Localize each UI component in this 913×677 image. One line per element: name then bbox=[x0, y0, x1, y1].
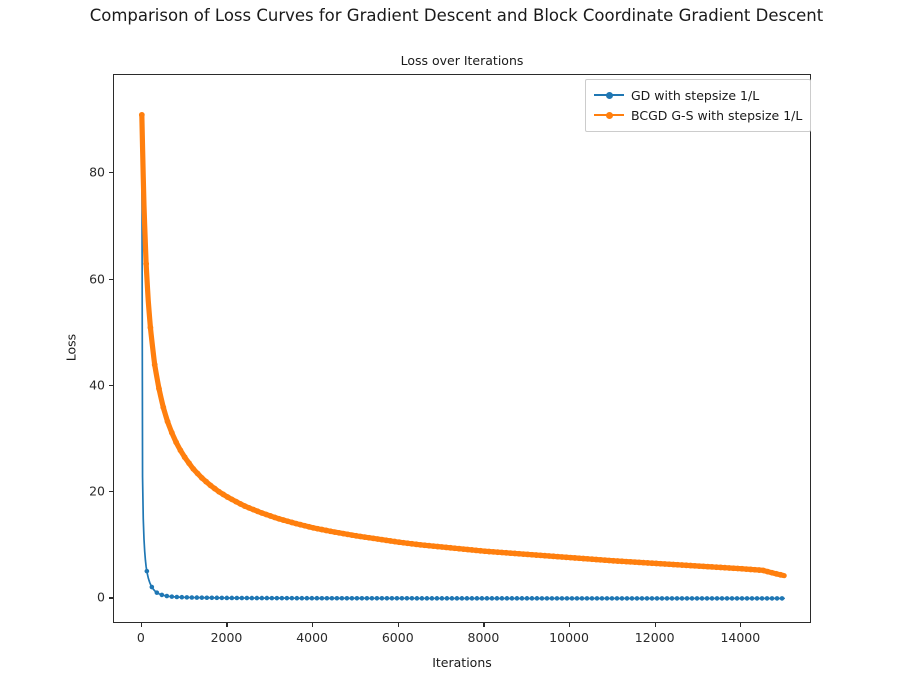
y-tick-label: 80 bbox=[67, 165, 105, 180]
plot-area bbox=[113, 74, 811, 623]
x-tick-label: 12000 bbox=[635, 630, 675, 645]
x-tick-label: 6000 bbox=[382, 630, 414, 645]
series-canvas bbox=[114, 75, 812, 624]
x-tick-label: 4000 bbox=[296, 630, 328, 645]
y-axis-label: Loss bbox=[64, 317, 79, 377]
x-axis-label: Iterations bbox=[113, 655, 811, 670]
y-tick-label: 0 bbox=[67, 590, 105, 605]
chart-legend: GD with stepsize 1/L BCGD G-S with steps… bbox=[585, 79, 811, 132]
series-markers bbox=[139, 112, 784, 578]
legend-item-gd: GD with stepsize 1/L bbox=[594, 85, 802, 105]
x-tick-label: 0 bbox=[137, 630, 145, 645]
legend-line-marker-icon bbox=[594, 108, 624, 122]
legend-line-marker-icon bbox=[594, 88, 624, 102]
x-tick-label: 14000 bbox=[720, 630, 760, 645]
series-markers bbox=[140, 113, 785, 601]
y-tick-label: 40 bbox=[67, 377, 105, 392]
legend-label-bcgd: BCGD G-S with stepsize 1/L bbox=[631, 108, 802, 123]
series-line bbox=[142, 115, 784, 576]
figure-canvas: Comparison of Loss Curves for Gradient D… bbox=[0, 0, 913, 677]
y-tick-label: 20 bbox=[67, 484, 105, 499]
x-tick-label: 2000 bbox=[211, 630, 243, 645]
legend-item-bcgd: BCGD G-S with stepsize 1/L bbox=[594, 105, 802, 125]
x-tick-label: 8000 bbox=[468, 630, 500, 645]
x-tick-label: 10000 bbox=[549, 630, 589, 645]
figure-suptitle: Comparison of Loss Curves for Gradient D… bbox=[0, 6, 913, 25]
chart-title: Loss over Iterations bbox=[113, 53, 811, 68]
legend-label-gd: GD with stepsize 1/L bbox=[631, 88, 759, 103]
y-tick-label: 60 bbox=[67, 271, 105, 286]
series-line bbox=[142, 115, 784, 599]
